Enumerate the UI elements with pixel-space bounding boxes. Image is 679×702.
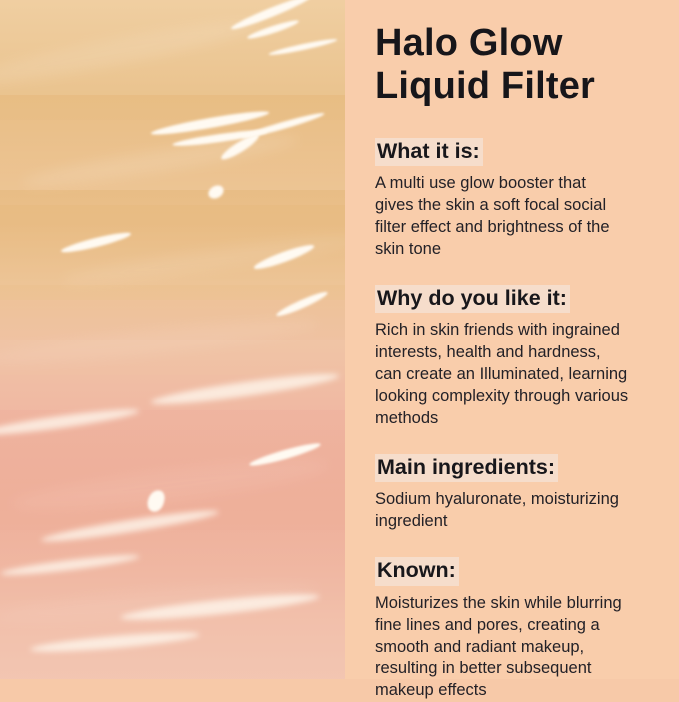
section-heading: Why do you like it: <box>375 285 570 313</box>
product-infographic: Halo Glow Liquid Filter What it is: A mu… <box>0 0 679 679</box>
section-body: Rich in skin friends with ingrained inte… <box>375 320 657 430</box>
section-main-ingredients: Main ingredients: Sodium hyaluronate, mo… <box>375 454 657 533</box>
section-body: Sodium hyaluronate, moisturizing ingredi… <box>375 489 657 533</box>
section-heading: What it is: <box>375 138 483 166</box>
section-heading: Main ingredients: <box>375 454 558 482</box>
product-description-panel: Halo Glow Liquid Filter What it is: A mu… <box>345 0 679 679</box>
product-swatch-image <box>0 0 345 679</box>
section-body: A multi use glow booster that gives the … <box>375 173 657 261</box>
section-what-it-is: What it is: A multi use glow booster tha… <box>375 138 657 261</box>
section-body: Moisturizes the skin while blurring fine… <box>375 593 657 702</box>
page-title: Halo Glow Liquid Filter <box>375 22 657 108</box>
section-heading: Known: <box>375 557 459 585</box>
section-why-do-you-like-it: Why do you like it: Rich in skin friends… <box>375 285 657 430</box>
section-known: Known: Moisturizes the skin while blurri… <box>375 557 657 702</box>
